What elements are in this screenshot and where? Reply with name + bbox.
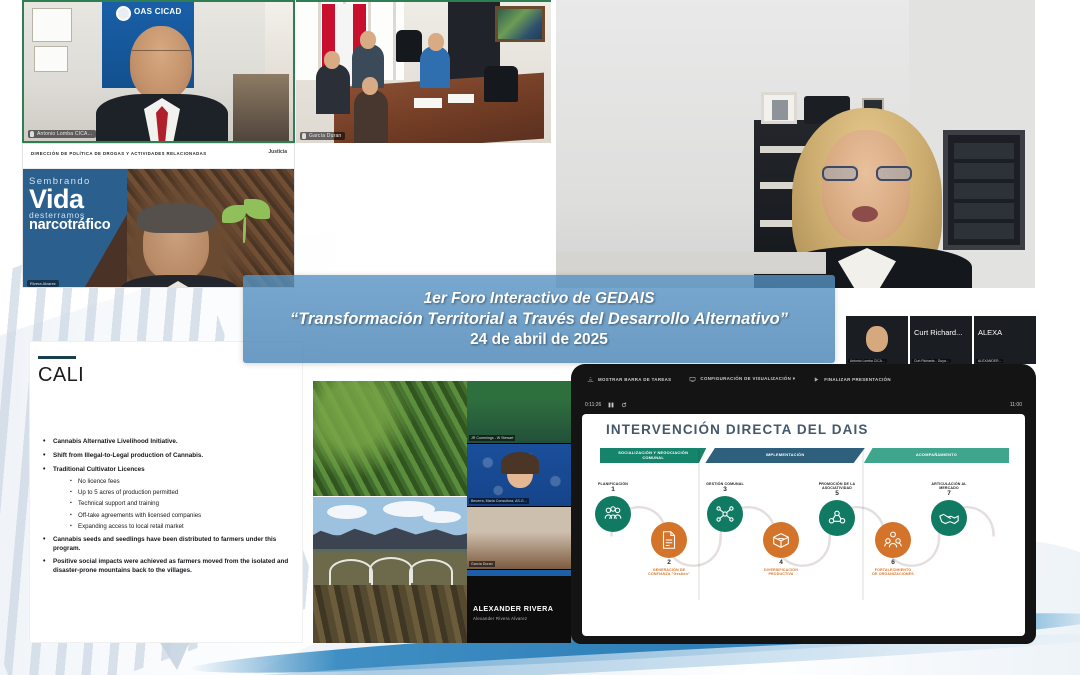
participant-label: Becerra, María Consultora, AS-G...	[469, 498, 529, 504]
screen-root: OAS CICAD Antonio Lomba CICA... García D…	[0, 0, 1080, 675]
sub-list-item: Expanding access to local retail market	[69, 523, 294, 531]
group-people-icon	[595, 496, 631, 532]
dais-step-3: GESTIÓN COMUNAL 3	[704, 482, 746, 532]
slide-hero-image: Sembrando Vida desterramos narcotráfico …	[23, 169, 295, 288]
wall-picture-frame-2	[34, 46, 68, 72]
dais-step-6: 6 FORTALECIMIENTO DE ORGANIZACIONES	[872, 522, 914, 576]
list-item: Shift from Illegal-to-Legal production o…	[42, 452, 294, 460]
strength-group-icon	[875, 522, 911, 558]
event-title-banner: 1er Foro Interactivo de GEDAIS “Transfor…	[243, 275, 835, 363]
eyeglasses-icon	[822, 166, 912, 182]
mini-participant-label: Antonio Lomba CICA...	[848, 359, 887, 363]
participant-tile[interactable]: JR Cummings - W Stewart	[467, 381, 571, 444]
list-item: Cannabis Alternative Livelihood Initiati…	[42, 438, 294, 446]
participant-label: García Duran	[469, 561, 495, 567]
dais-step-number: 4	[760, 560, 802, 567]
display-settings-button[interactable]: CONFIGURACIÓN DE VISUALIZACIÓN ▾	[689, 376, 795, 383]
end-presentation-label: FINALIZAR PRESENTACIÓN	[824, 377, 891, 382]
dais-phase-row: SOCIALIZACIÓN Y NEGOCIACIÓN COMUNAL IMPL…	[600, 448, 1009, 463]
dais-step-number: 5	[816, 491, 858, 498]
mini-participant-label: ALEXANDER...	[976, 359, 1003, 363]
table-paper-2	[448, 94, 474, 103]
video-tile-antonio-lomba[interactable]: OAS CICAD Antonio Lomba CICA...	[22, 0, 295, 143]
banner-line-1: 1er Foro Interactivo de GEDAIS	[424, 290, 655, 308]
mini-participant-name: Curt Richard...	[910, 328, 972, 337]
timer-total: 11:00	[1010, 402, 1022, 408]
dais-step-number: 6	[872, 560, 914, 567]
room-name: García Duran	[309, 133, 341, 139]
slide-speaker-overlay	[119, 203, 239, 288]
presentation-timer-row[interactable]: 0:11:26 11:00	[571, 396, 1036, 414]
sub-list-item: Up to 5 acres of production permitted	[69, 489, 294, 497]
banner-line-3: 24 de abril de 2025	[470, 331, 608, 349]
slide-header-title: DIRECCIÓN DE POLÍTICA DE DROGAS Y ACTIVI…	[31, 151, 207, 156]
dais-step-number: 2	[648, 560, 690, 567]
speaker-subtitle: Alexander Rivera Alvarez	[473, 616, 527, 621]
speaker-name: ALEXANDER RIVERA	[473, 604, 553, 613]
room-participant-3	[420, 46, 450, 88]
page-title: CALI	[38, 364, 84, 387]
dais-step-4: 4 DIVERSIFICACIÓN PRODUCTIVA	[760, 522, 802, 576]
end-presentation-button[interactable]: FINALIZAR PRESENTACIÓN	[813, 376, 891, 383]
dais-title: INTERVENCIÓN DIRECTA DEL DAIS	[606, 422, 868, 437]
speaker-mouth	[852, 206, 878, 222]
document-handshake-icon	[651, 522, 687, 558]
desk-surface	[556, 252, 826, 274]
list-item: Positive social impacts were achieved as…	[42, 558, 294, 575]
table-paper	[414, 98, 442, 108]
show-taskbar-button[interactable]: MOSTRAR BARRA DE TAREAS	[587, 376, 671, 383]
show-taskbar-label: MOSTRAR BARRA DE TAREAS	[598, 377, 671, 382]
dais-phase: ACOMPAÑAMIENTO	[864, 448, 1009, 463]
mini-participant-tile[interactable]: Curt Richard... Curt Richards - Guya...	[910, 316, 972, 364]
mini-participant-strip[interactable]: Antonio Lomba CICA... Curt Richard... Cu…	[846, 316, 1036, 364]
dais-step-5: PROMOCIÓN DE LA ASOCIATIVIDAD 5	[816, 482, 858, 536]
title-accent-rule	[38, 356, 76, 359]
dais-step-number: 7	[928, 491, 970, 498]
list-item-label: Traditional Cultivator Licences	[53, 466, 145, 473]
dais-step-label: FORTALECIMIENTO DE ORGANIZACIONES	[872, 568, 914, 576]
speaker-name-card: ALEXANDER RIVERA Alexander Rivera Alvare…	[467, 576, 571, 643]
dais-phase: IMPLEMENTACIÓN	[705, 448, 865, 463]
cali-sub-list: No licence fees Up to 5 acres of product…	[69, 478, 294, 531]
presentation-toolbar[interactable]: MOSTRAR BARRA DE TAREAS CONFIGURACIÓN DE…	[571, 364, 1036, 394]
room-nametag: García Duran	[300, 132, 345, 140]
dais-step-1: PLANIFICACIÓN 1	[592, 482, 634, 532]
speaker-face	[822, 130, 910, 242]
list-item: Cannabis seeds and seedlings have been d…	[42, 536, 294, 553]
wall-picture-frame	[32, 8, 72, 42]
sub-list-item: Off-take agreements with licensed compan…	[69, 512, 294, 520]
participant-face	[130, 26, 192, 100]
video-tile-meeting-room[interactable]: García Duran	[296, 0, 551, 143]
display-settings-icon	[689, 376, 696, 383]
timer-elapsed: 0:11:26	[585, 402, 601, 408]
office-chair	[396, 30, 422, 62]
reset-icon[interactable]	[621, 402, 627, 408]
video-tile-active-speaker[interactable]	[556, 0, 1035, 288]
slide-title-block: Sembrando Vida desterramos narcotráfico	[29, 177, 110, 233]
microphone-icon	[302, 133, 306, 139]
microphone-icon	[30, 131, 34, 137]
background-shelf	[233, 74, 289, 143]
mountain-ridge	[313, 523, 467, 549]
dais-step-nodes: PLANIFICACIÓN 1	[590, 476, 1019, 606]
participant-nametag: Antonio Lomba CICA...	[28, 130, 96, 138]
participant-label: JR Cummings - W Stewart	[469, 435, 515, 441]
mini-participant-label: Curt Richards - Guya...	[912, 359, 951, 363]
taskbar-icon	[587, 376, 594, 383]
wall-monitor	[943, 130, 1025, 250]
justicia-logo: Justicia	[268, 149, 287, 155]
pause-icon[interactable]	[608, 402, 614, 408]
association-icon	[819, 500, 855, 536]
mini-participant-tile[interactable]: ALEXA ALEXANDER...	[974, 316, 1036, 364]
background-triangle-mark	[159, 639, 193, 671]
cali-bullet-list: Cannabis Alternative Livelihood Initiati…	[42, 438, 294, 580]
dais-step-number: 3	[704, 487, 746, 494]
dais-phase: SOCIALIZACIÓN Y NEGOCIACIÓN COMUNAL	[600, 448, 706, 463]
slide-header: DIRECCIÓN DE POLÍTICA DE DROGAS Y ACTIVI…	[23, 144, 294, 169]
slide-speaker-nametag: Rivera Alvarez	[27, 280, 59, 287]
dais-step-7: ARTICULACIÓN AL MERCADO 7	[928, 482, 970, 536]
crop-rows	[313, 585, 467, 643]
dais-step-number: 1	[592, 487, 634, 494]
room-participant-4	[354, 90, 388, 143]
sub-list-item: Technical support and training	[69, 500, 294, 508]
slide-cali[interactable]: CALI Cannabis Alternative Livelihood Ini…	[30, 342, 302, 642]
mini-participant-name: ALEXA	[974, 328, 1036, 337]
participant-tile[interactable]: Becerra, María Consultora, AS-G...	[467, 444, 571, 507]
screen-share-window[interactable]: MOSTRAR BARRA DE TAREAS CONFIGURACIÓN DE…	[571, 364, 1036, 644]
glasses-icon	[132, 50, 190, 61]
photo-frame	[761, 92, 797, 124]
office-chair-2	[484, 66, 518, 102]
end-presentation-icon	[813, 376, 820, 383]
room-participant-1	[316, 64, 350, 114]
dais-step-label: PROMOCIÓN DE LA ASOCIATIVIDAD	[816, 482, 858, 490]
list-item: Traditional Cultivator Licences No licen…	[42, 466, 294, 531]
photo-mountain-farm	[313, 497, 467, 643]
participant-name: Antonio Lomba CICA...	[37, 131, 92, 137]
oas-cicad-label: OAS CICAD	[134, 7, 182, 16]
sub-list-item: No licence fees	[69, 478, 294, 486]
mini-participant-tile[interactable]: Antonio Lomba CICA...	[846, 316, 908, 364]
slide-speaker-hair	[137, 203, 215, 233]
participant-tile[interactable]: García Duran	[467, 507, 571, 570]
display-settings-label: CONFIGURACIÓN DE VISUALIZACIÓN ▾	[700, 376, 795, 382]
dais-step-label: DIVERSIFICACIÓN PRODUCTIVA	[760, 568, 802, 576]
banner-line-2: “Transformación Territorial a Través del…	[290, 310, 788, 329]
room-painting	[495, 6, 545, 42]
network-people-icon	[707, 496, 743, 532]
oas-logo-icon	[116, 6, 131, 21]
handshake-market-icon	[931, 500, 967, 536]
photo-cannabis-field	[313, 381, 467, 496]
slide-title-line4: narcotráfico	[29, 218, 110, 233]
shared-slide: INTERVENCIÓN DIRECTA DEL DAIS SOCIALIZAC…	[582, 414, 1025, 636]
dais-step-label: ARTICULACIÓN AL MERCADO	[928, 482, 970, 490]
dais-step-2: 2 GENERACIÓN DE CONFIANZA "Gestión"	[648, 522, 690, 576]
crops-box-icon	[763, 522, 799, 558]
slide-title-line2: Vida	[29, 186, 110, 213]
slide-sembrando-vida[interactable]: DIRECCIÓN DE POLÍTICA DE DROGAS Y ACTIVI…	[22, 143, 295, 288]
dais-step-label: GENERACIÓN DE CONFIANZA "Gestión"	[648, 568, 690, 576]
